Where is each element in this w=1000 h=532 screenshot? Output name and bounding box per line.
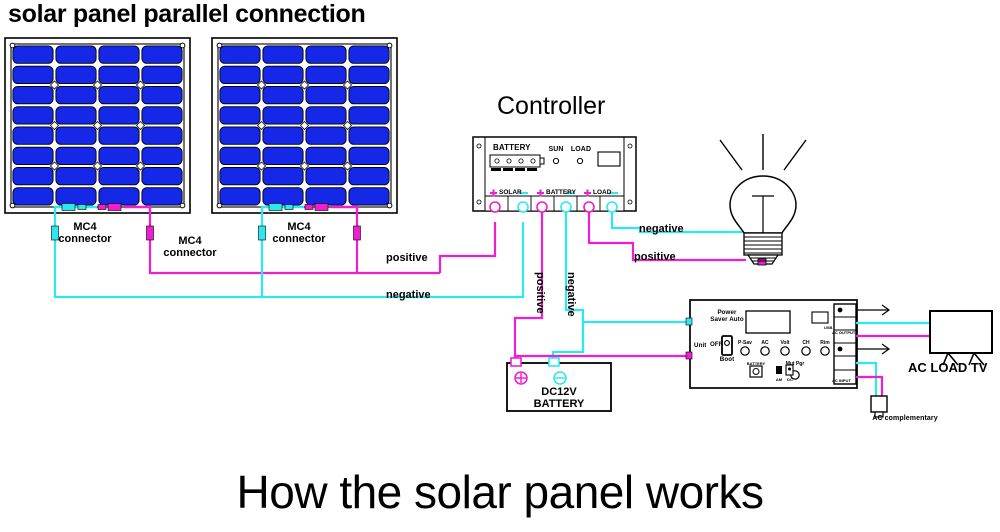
inverter-button-label-1: AC	[761, 340, 768, 346]
inverter-small-label-1: DC	[787, 377, 793, 382]
mc4-label-left-1: MC4connector	[58, 221, 111, 245]
terminal-label-solar: SOLAR	[499, 189, 522, 196]
inverter-power-label: PowerSaver Auto	[710, 309, 743, 323]
diagram-canvas: solar panel parallel connection How the …	[0, 0, 1000, 532]
controller-battery-label: BATTERY	[493, 143, 531, 152]
wire-label-panel-negative: negative	[386, 289, 431, 301]
inverter-unit-label: Unit	[694, 342, 706, 349]
inverter-button-label-0: P-Sav	[738, 340, 752, 346]
terminal-label-battery: BATTERY	[546, 189, 576, 196]
inverter-button-label-3: CH	[802, 340, 809, 346]
wire-label-load-positive: positive	[634, 251, 676, 263]
controller-sun-indicator-label: SUN	[548, 146, 563, 153]
tv-label: AC LOAD TV	[908, 360, 987, 375]
mc4-label-middle: MC4connector	[163, 235, 216, 259]
solar-panel-right	[212, 38, 397, 213]
wire-label-load-negative: negative	[639, 223, 684, 235]
tv-monitor	[930, 311, 992, 365]
inverter-switch-boot-label: Boot	[720, 356, 735, 363]
inverter-extra-button-label: Mut Pgr	[786, 362, 805, 367]
inverter-button-label-4: Rim	[820, 340, 829, 346]
wire-label-panel-positive: positive	[386, 252, 428, 264]
wire-label-battery-positive: positive	[534, 272, 546, 314]
terminal-label-load: LOAD	[593, 189, 611, 196]
inverter-port-label-ac-input: AC INPUT	[832, 378, 851, 383]
inverter-port-label-ac-output: AC OUTPUT	[832, 330, 855, 335]
solar-panel-left	[5, 38, 190, 213]
wiring-diagram	[0, 0, 1000, 532]
ac-complementary-label: AC complementary	[872, 415, 937, 422]
inverter-output-wires	[856, 305, 930, 396]
battery-label: DC12VBATTERY	[534, 386, 585, 410]
inverter-switch-off-label: OFF	[710, 341, 723, 348]
ac-complementary-plug	[871, 396, 887, 417]
inverter-battery-jack-label: BATTERY	[747, 361, 765, 366]
light-bulb	[720, 134, 806, 265]
inverter-button-label-2: Volt	[780, 340, 789, 346]
controller-load-indicator-label: LOAD	[571, 146, 591, 153]
mc4-label-right: MC4connector	[272, 221, 325, 245]
wire-label-battery-negative: negative	[565, 272, 577, 317]
inverter-small-label-0: AM	[776, 377, 782, 382]
